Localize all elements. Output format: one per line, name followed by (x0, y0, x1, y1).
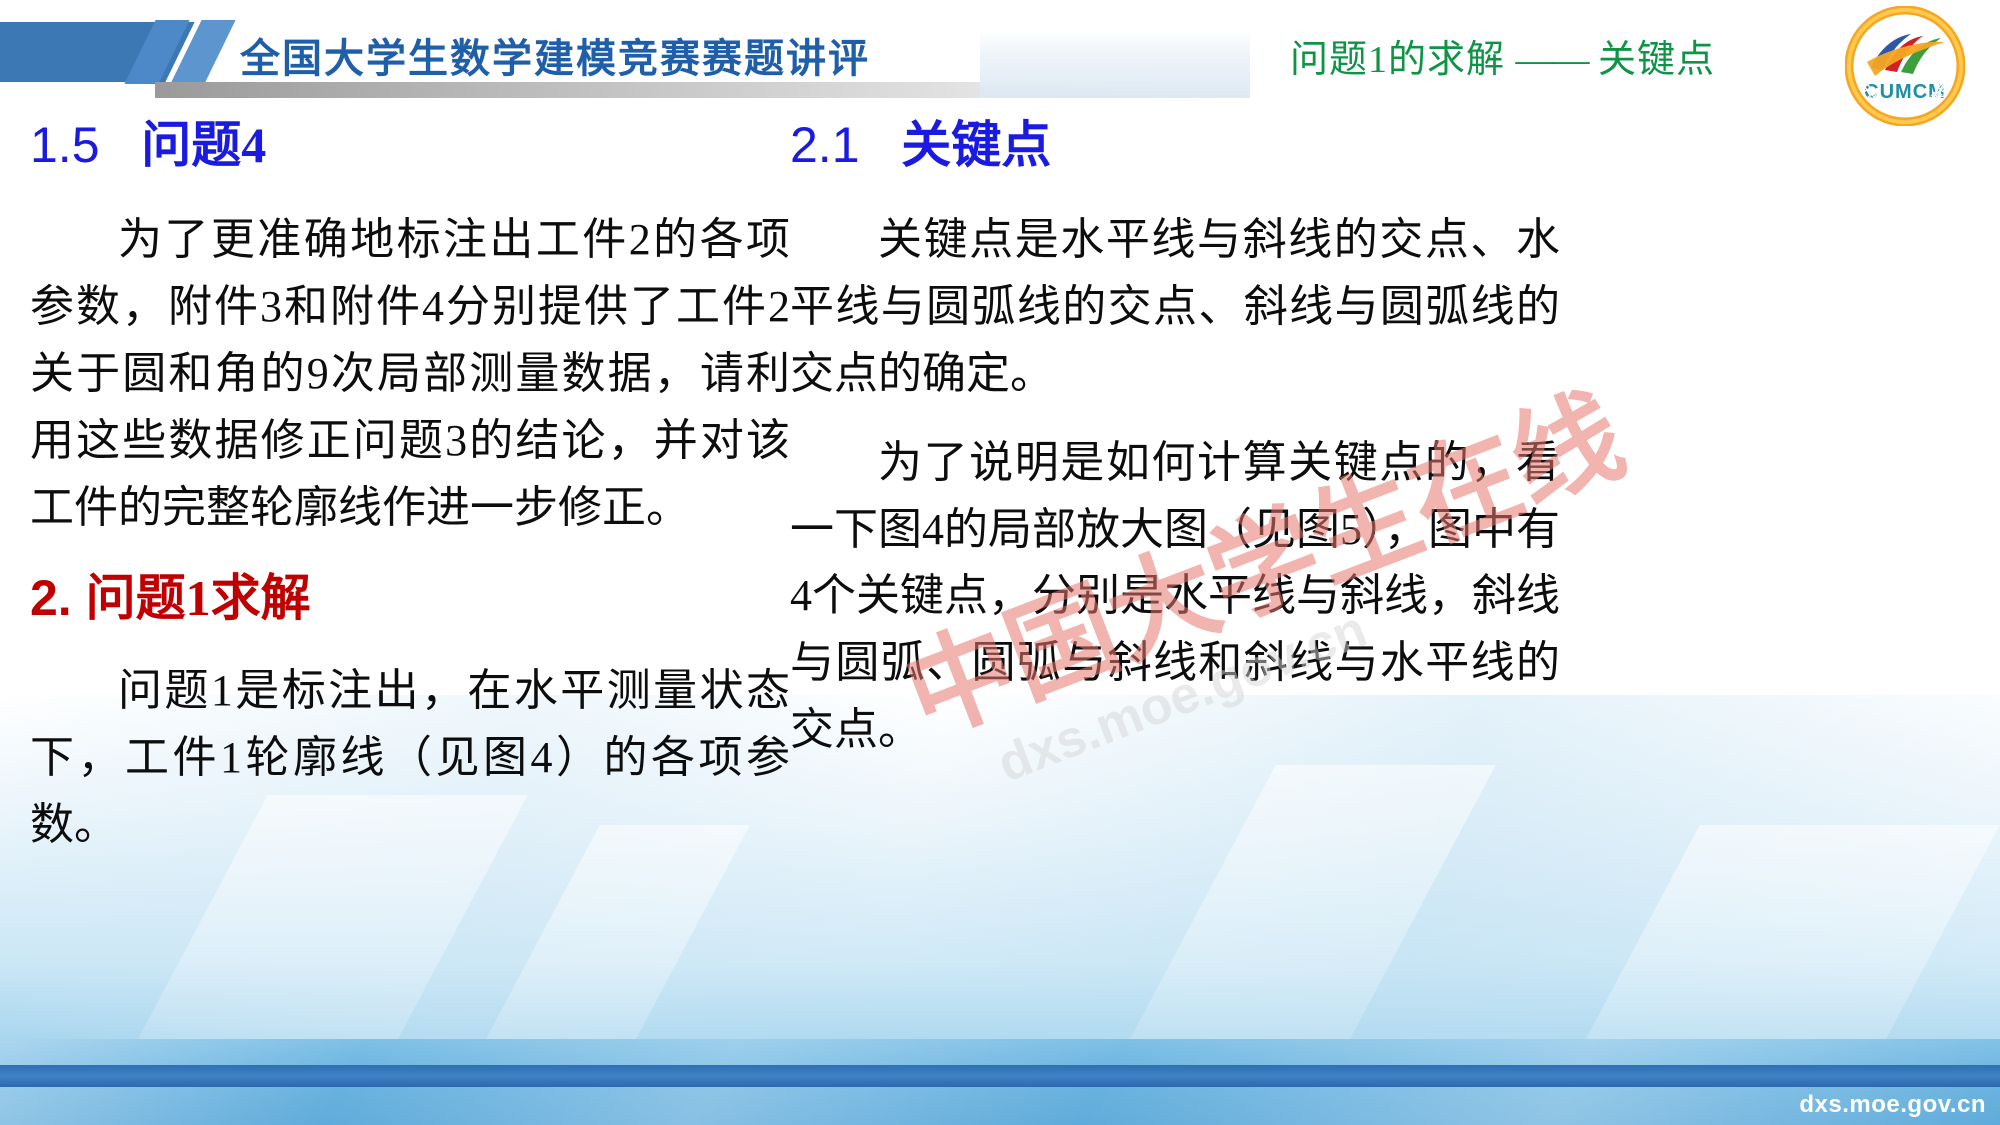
right-column: 2.1 关键点 关键点是水平线与斜线的交点、水平线与圆弧线的交点、斜线与圆弧线的… (790, 118, 1560, 764)
left-heading-2: 2. 问题1求解 (30, 571, 790, 626)
left-heading-1-5-number: 1.5 (30, 117, 100, 173)
right-paragraph-2: 为了说明是如何计算关键点的，看一下图4的局部放大图（见图5），图中有4个关键点，… (790, 430, 1560, 764)
cumcm-logo: CUMCM 中国大学生数学建模竞赛 (1845, 6, 1965, 126)
left-heading-2-number: 2. (30, 570, 72, 626)
left-paragraph-1: 为了更准确地标注出工件2的各项参数，附件3和附件4分别提供了工件2关于圆和角的9… (30, 207, 790, 541)
breadcrumb-subsection: 关键点 (1598, 39, 1715, 81)
right-heading-2-1: 2.1 关键点 (790, 118, 1560, 173)
header-glass-panel (980, 30, 1250, 98)
footer-url: dxs.moe.gov.cn (1799, 1091, 1986, 1119)
slide-canvas: 全国大学生数学建模竞赛赛题讲评 问题1的求解 —— 关键点 CUMCM (0, 0, 2000, 1125)
left-heading-1-5-text: 问题4 (141, 117, 266, 173)
left-heading-1-5: 1.5 问题4 (30, 118, 790, 173)
cumcm-logo-icon: CUMCM 中国大学生数学建模竞赛 (1845, 6, 1965, 126)
left-column: 1.5 问题4 为了更准确地标注出工件2的各项参数，附件3和附件4分别提供了工件… (30, 118, 790, 859)
left-heading-2-text: 问题1求解 (86, 570, 311, 626)
right-heading-2-1-number: 2.1 (790, 117, 860, 173)
presentation-title: 全国大学生数学建模竞赛赛题讲评 (240, 26, 870, 84)
slide-footer: dxs.moe.gov.cn (0, 1039, 2000, 1125)
right-paragraph-1: 关键点是水平线与斜线的交点、水平线与圆弧线的交点、斜线与圆弧线的交点的确定。 (790, 207, 1560, 408)
left-paragraph-2: 问题1是标注出，在水平测量状态下，工件1轮廓线（见图4）的各项参数。 (30, 658, 790, 859)
breadcrumb-separator: —— (1516, 39, 1588, 81)
breadcrumb: 问题1的求解 —— 关键点 (1290, 28, 1715, 83)
slide-header: 全国大学生数学建模竞赛赛题讲评 问题1的求解 —— 关键点 CUMCM (0, 0, 2000, 110)
footer-stripe (0, 1065, 2000, 1087)
right-heading-2-1-text: 关键点 (901, 117, 1051, 173)
breadcrumb-section: 问题1的求解 (1290, 39, 1505, 81)
